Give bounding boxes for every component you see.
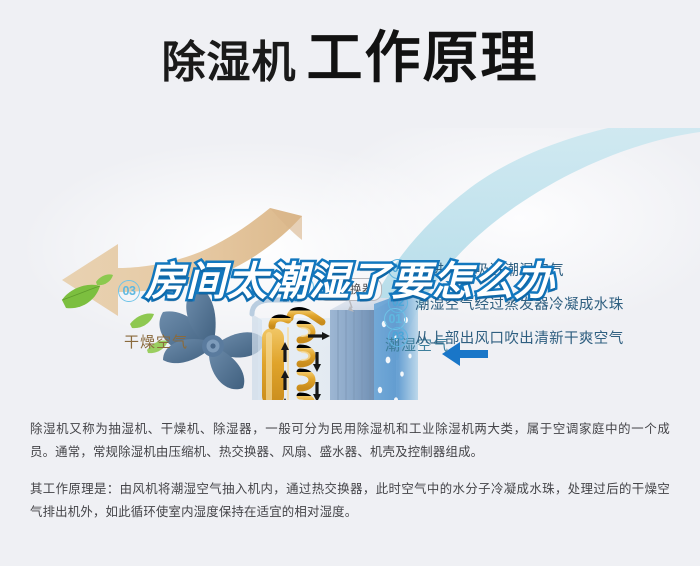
step-text-03: 从上部出风口吹出清新干爽空气 xyxy=(415,327,624,348)
step-item-02: 02 潮湿空气经过蒸发器冷凝成水珠 xyxy=(388,286,688,320)
body-paragraph-1: 除湿机又称为抽湿机、干燥机、除湿器，一般可分为民用除湿机和工业除湿机两大类，属于… xyxy=(30,418,670,464)
step-item-01: 01 由进风口吸进潮湿空气 xyxy=(388,252,688,286)
title-band: 除湿机工作原理 xyxy=(0,0,700,128)
compressor-cylinder xyxy=(262,328,284,400)
page-title: 除湿机工作原理 xyxy=(0,30,700,86)
step-badge-02: 02 xyxy=(388,293,408,313)
badge-heat-exchanger: 02 xyxy=(292,276,314,298)
callout-heat-exchanger: 热交换器 xyxy=(318,278,382,301)
step-badge-03: 03 xyxy=(388,327,408,347)
step-text-01: 由进风口吸进潮湿空气 xyxy=(415,259,564,280)
title-part-two: 工作原理 xyxy=(307,26,539,89)
body-copy: 除湿机又称为抽湿机、干燥机、除湿器，一般可分为民用除湿机和工业除湿机两大类，属于… xyxy=(0,400,700,566)
badge-dry-air: 03 xyxy=(118,280,140,302)
body-paragraph-2: 其工作原理是：由风机将潮湿空气抽入机内，通过热交换器，此时空气中的水分子冷凝成水… xyxy=(30,478,670,524)
page-root: 除湿机工作原理 xyxy=(0,0,700,566)
label-dry-air: 干燥空气 xyxy=(124,335,188,350)
step-text-02: 潮湿空气经过蒸发器冷凝成水珠 xyxy=(415,293,624,314)
step-badge-01: 01 xyxy=(388,259,408,279)
step-item-03: 03 从上部出风口吹出清新干爽空气 xyxy=(388,320,688,354)
step-list: 01 由进风口吸进潮湿空气 02 潮湿空气经过蒸发器冷凝成水珠 03 从上部出风… xyxy=(388,252,688,354)
title-part-one: 除湿机 xyxy=(162,38,297,87)
